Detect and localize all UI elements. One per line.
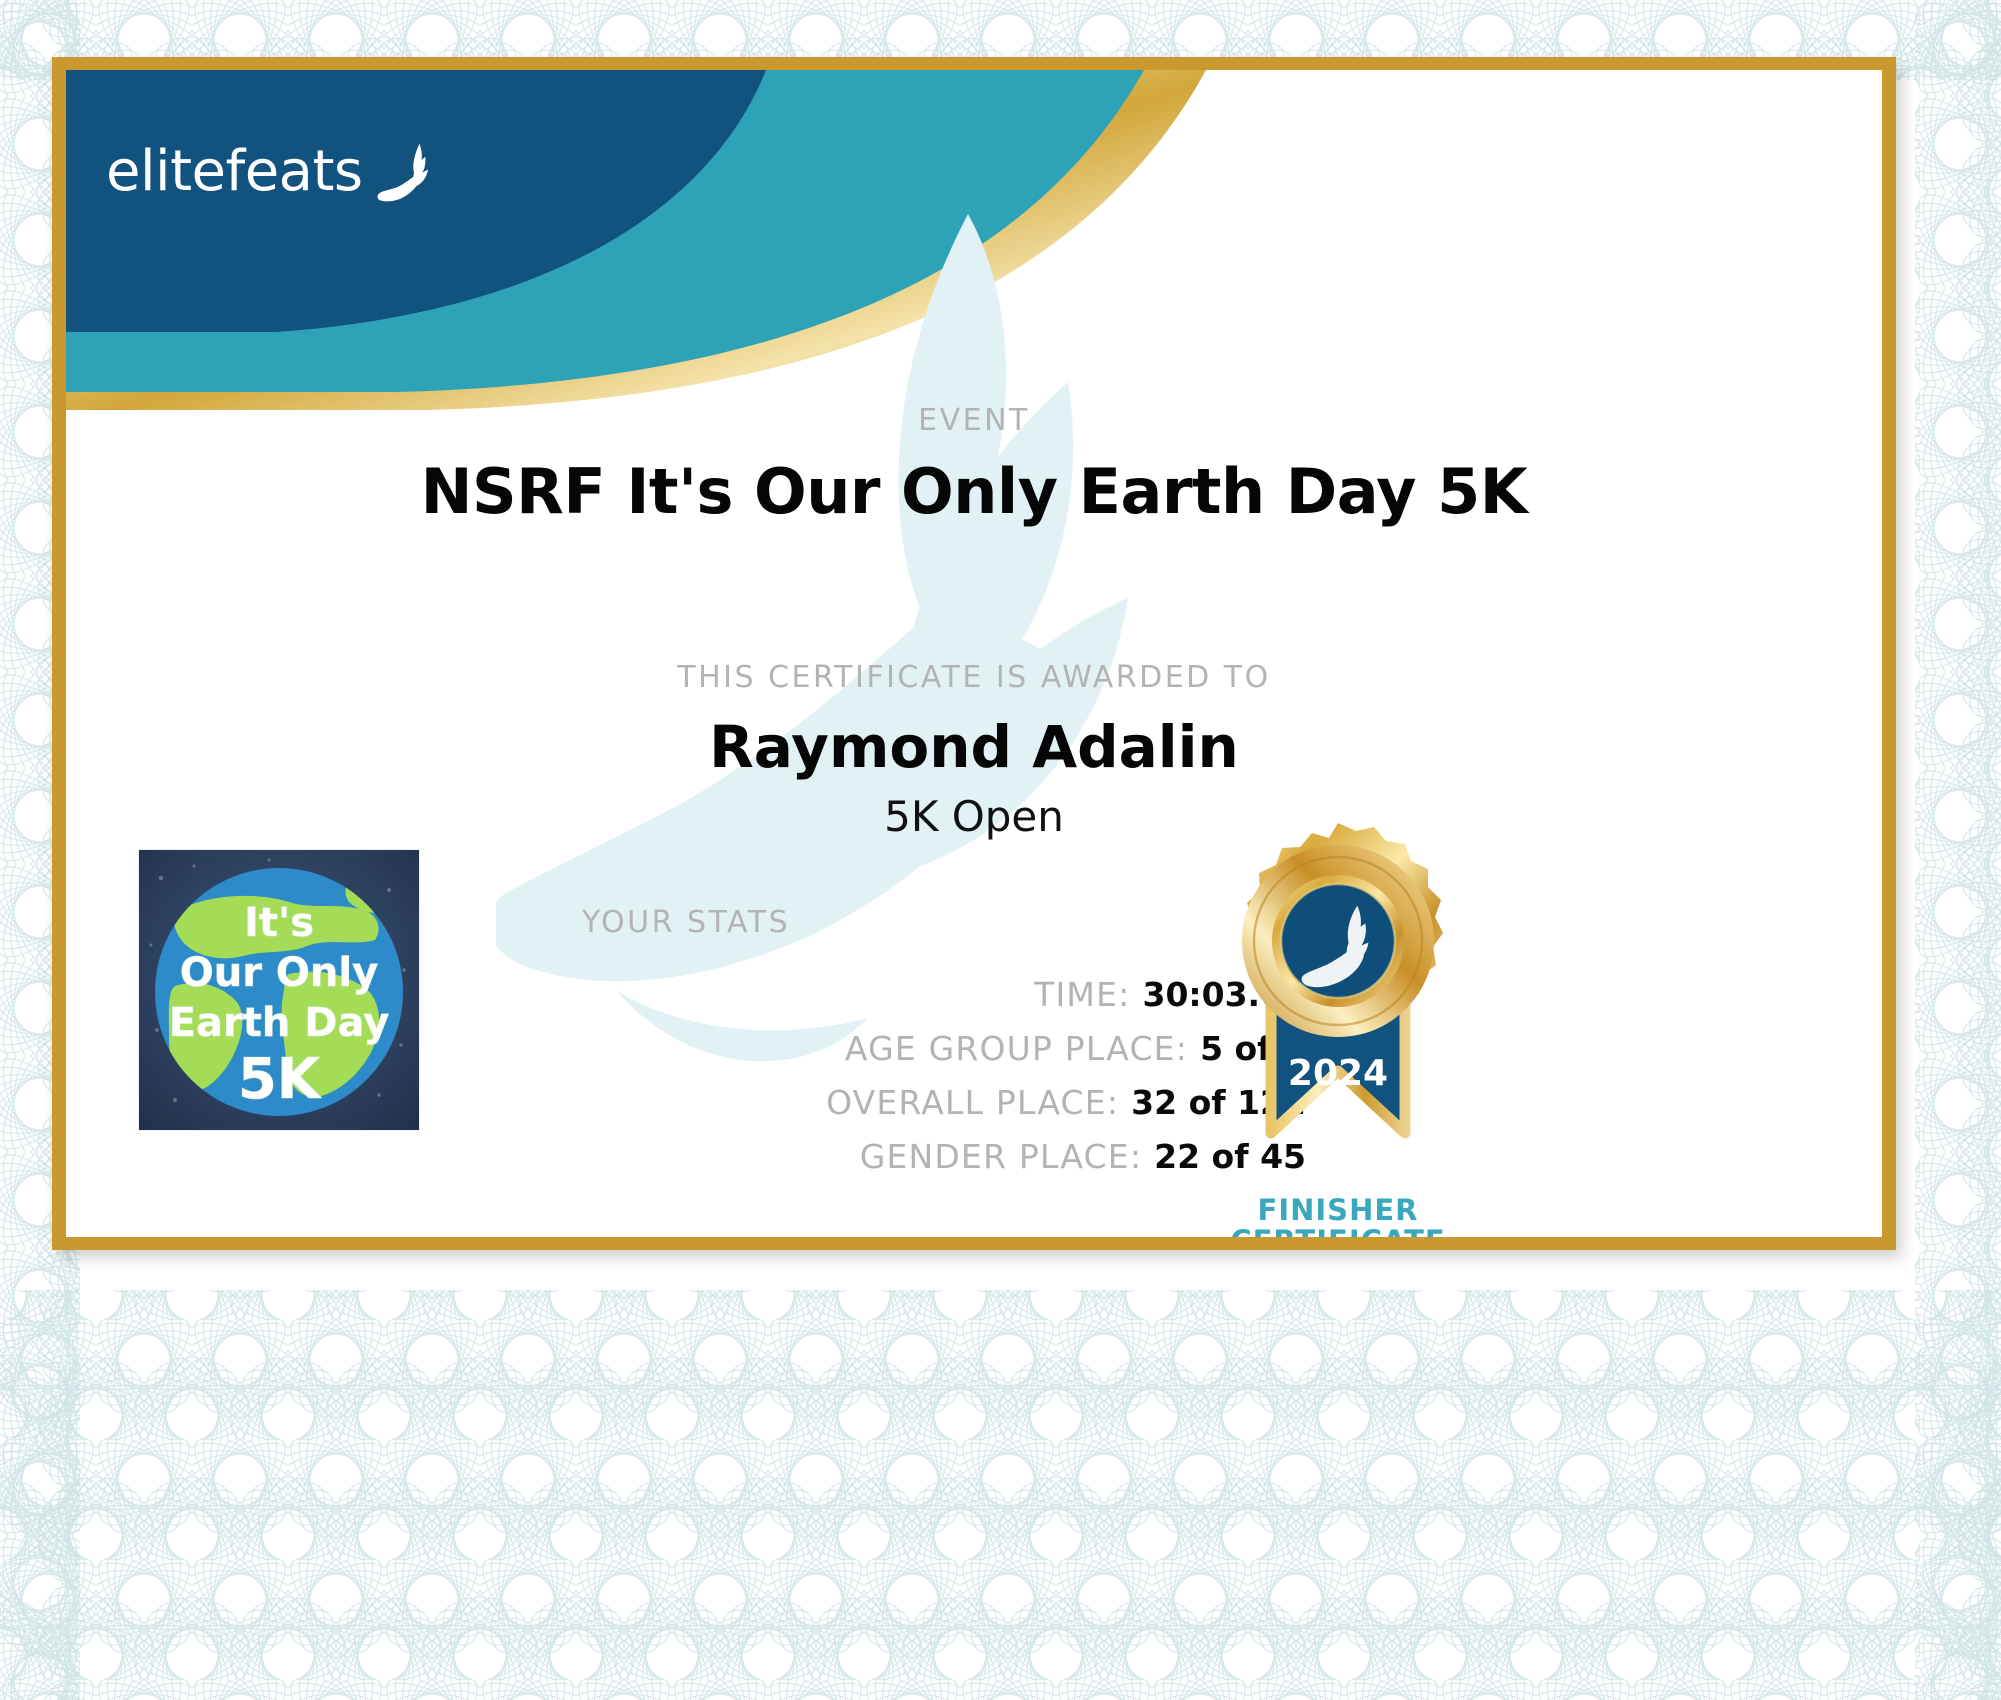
medal-caption: FINISHER CERTIFICATE (1208, 1195, 1468, 1237)
event-title: NSRF It's Our Only Earth Day 5K (66, 455, 1882, 528)
globe-line-4: 5K (238, 1047, 323, 1112)
globe-line-1: It's (244, 900, 314, 946)
certificate-gold-frame: elitefeats (52, 57, 1896, 1250)
event-label: EVENT (66, 403, 1882, 438)
winged-foot-icon (369, 138, 441, 210)
stat-key: AGE GROUP PLACE: (845, 1029, 1188, 1068)
medal-caption-line-1: FINISHER (1208, 1195, 1468, 1226)
finisher-medal-badge: 2024 FINISHER CERTIFICATE (1208, 793, 1468, 1237)
certificate-inner-card: elitefeats (66, 70, 1882, 1237)
globe-line-3: Earth Day (169, 1000, 390, 1046)
awarded-to-label: THIS CERTIFICATE IS AWARDED TO (66, 660, 1882, 695)
earth-globe-logo: It's Our Only Earth Day 5K (139, 850, 419, 1130)
medal-caption-line-2: CERTIFICATE (1208, 1226, 1468, 1237)
globe-line-2: Our Only (180, 950, 378, 996)
certificate-page: elitefeats (0, 0, 2001, 1700)
gold-medal-ribbon-icon: 2024 (1208, 793, 1468, 1193)
stat-key: GENDER PLACE: (860, 1137, 1142, 1176)
recipient-name: Raymond Adalin (66, 713, 1882, 781)
certificate-body: EVENT NSRF It's Our Only Earth Day 5K TH… (66, 70, 1882, 1237)
stat-key: OVERALL PLACE: (826, 1083, 1119, 1122)
stat-row-gender-place: GENDER PLACE: 22 of 45 (66, 1137, 1306, 1176)
brand-logo: elitefeats (106, 132, 441, 210)
division-name: 5K Open (66, 792, 1882, 841)
stat-key: TIME: (1034, 975, 1130, 1014)
brand-name: elitefeats (106, 139, 363, 204)
medal-year: 2024 (1288, 1053, 1388, 1094)
